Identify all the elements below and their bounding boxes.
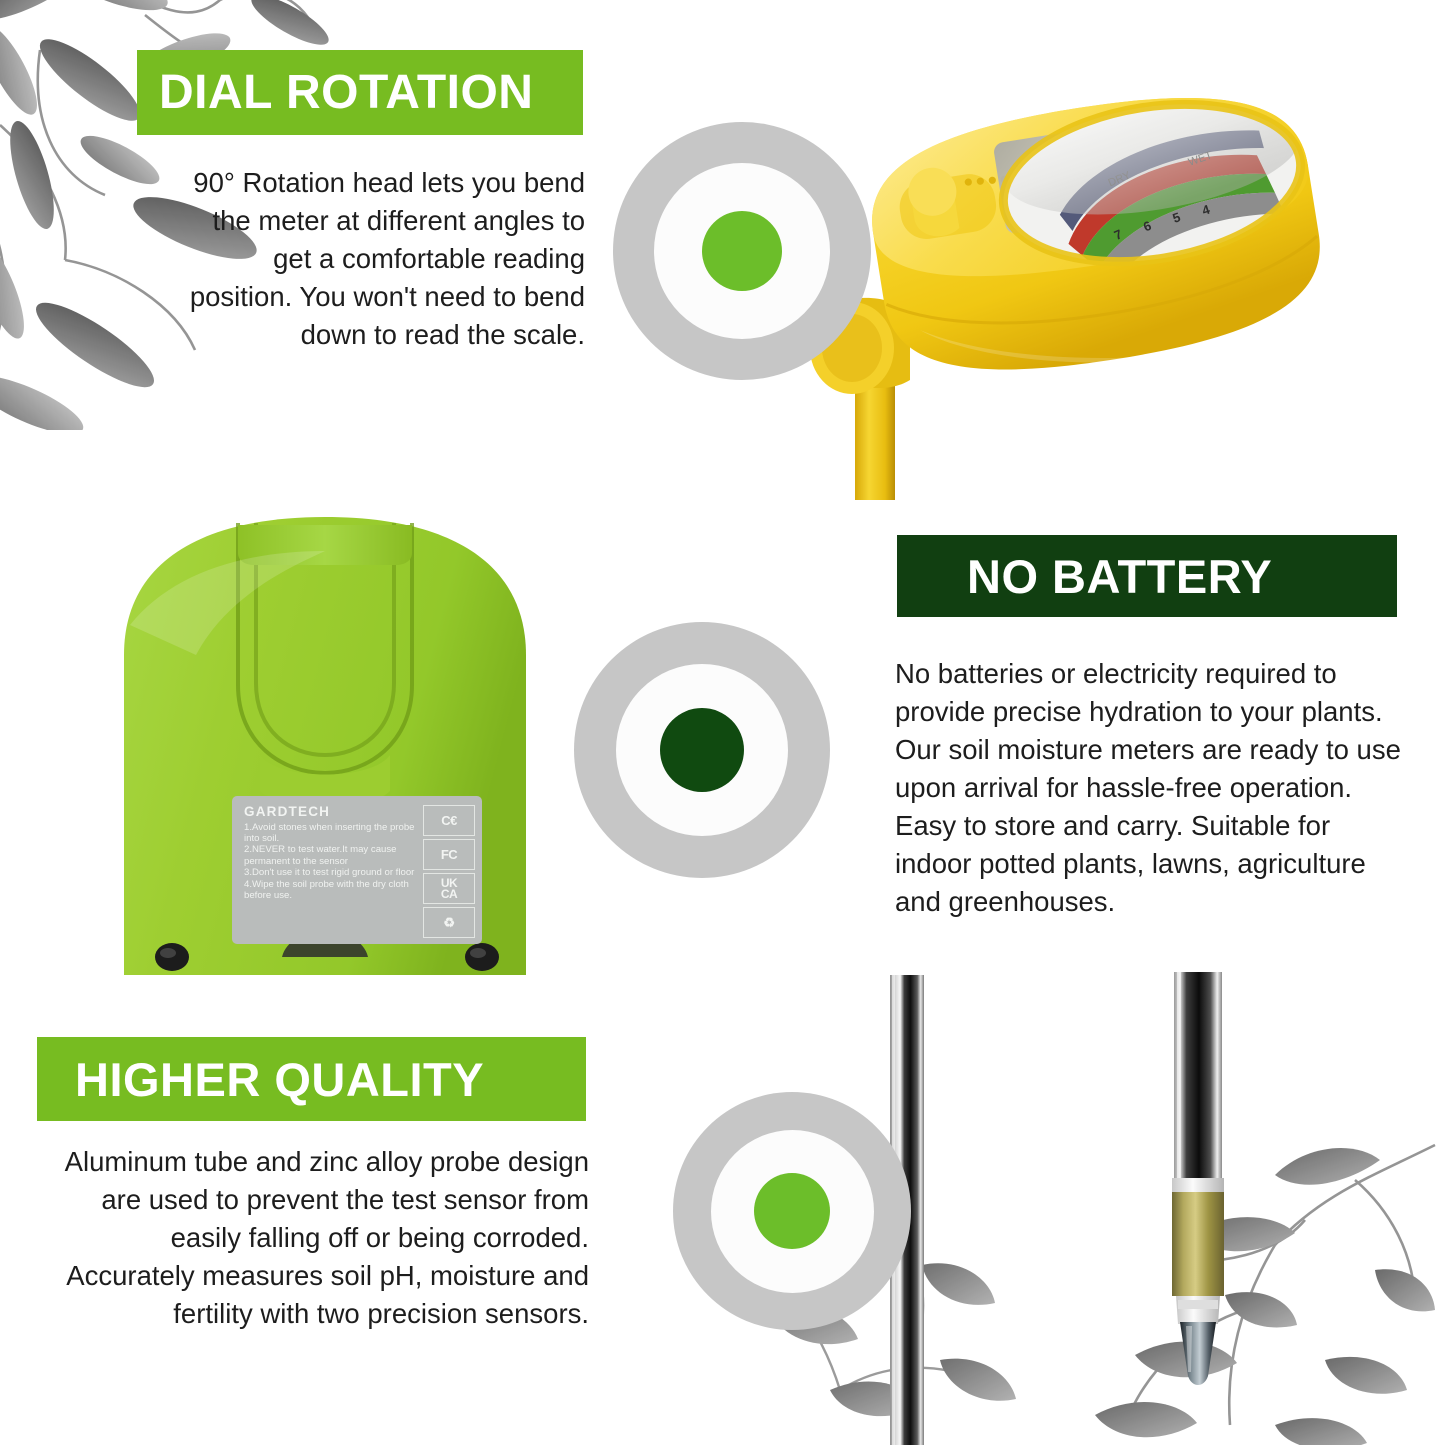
callout-center-dot — [660, 708, 744, 792]
callout-inner-disc — [711, 1130, 874, 1293]
section-body-higher-quality: Aluminum tube and zinc alloy probe desig… — [55, 1143, 589, 1333]
section-title-dial-rotation: DIAL ROTATION — [159, 69, 533, 117]
section-body-dial-rotation: 90° Rotation head lets you bend the mete… — [185, 164, 585, 354]
section-body-no-battery: No batteries or electricity required to … — [895, 655, 1403, 921]
product-infographic: GARDTECH 4-in-1 Soil Tester 7 6 5 4 DRY — [0, 0, 1445, 1445]
callout-higher-quality — [673, 1092, 911, 1330]
callout-dial-rotation — [613, 122, 871, 380]
callout-no-battery — [574, 622, 830, 878]
recycle-mark-icon: ♻ — [423, 907, 475, 938]
label-instructions: 1.Avoid stones when inserting the probe … — [244, 822, 422, 902]
section-header-higher-quality: HIGHER QUALITY — [37, 1037, 586, 1121]
callout-center-dot — [754, 1173, 830, 1249]
section-title-higher-quality: HIGHER QUALITY — [75, 1056, 484, 1103]
zinc-alloy-probe — [1166, 972, 1230, 1392]
device-warning-label: GARDTECH 1.Avoid stones when inserting t… — [232, 796, 482, 944]
section-header-dial-rotation: DIAL ROTATION — [137, 50, 583, 135]
callout-center-dot — [702, 211, 782, 291]
fcc-mark-icon: FC — [423, 839, 475, 870]
ukca-mark-icon: UKCA — [423, 873, 475, 904]
section-header-no-battery: NO BATTERY — [897, 535, 1397, 617]
callout-inner-disc — [654, 163, 830, 339]
certification-marks: C€ FC UKCA ♻ — [423, 805, 475, 938]
section-title-no-battery: NO BATTERY — [967, 553, 1272, 600]
callout-inner-disc — [616, 664, 788, 836]
ce-mark-icon: C€ — [423, 805, 475, 836]
